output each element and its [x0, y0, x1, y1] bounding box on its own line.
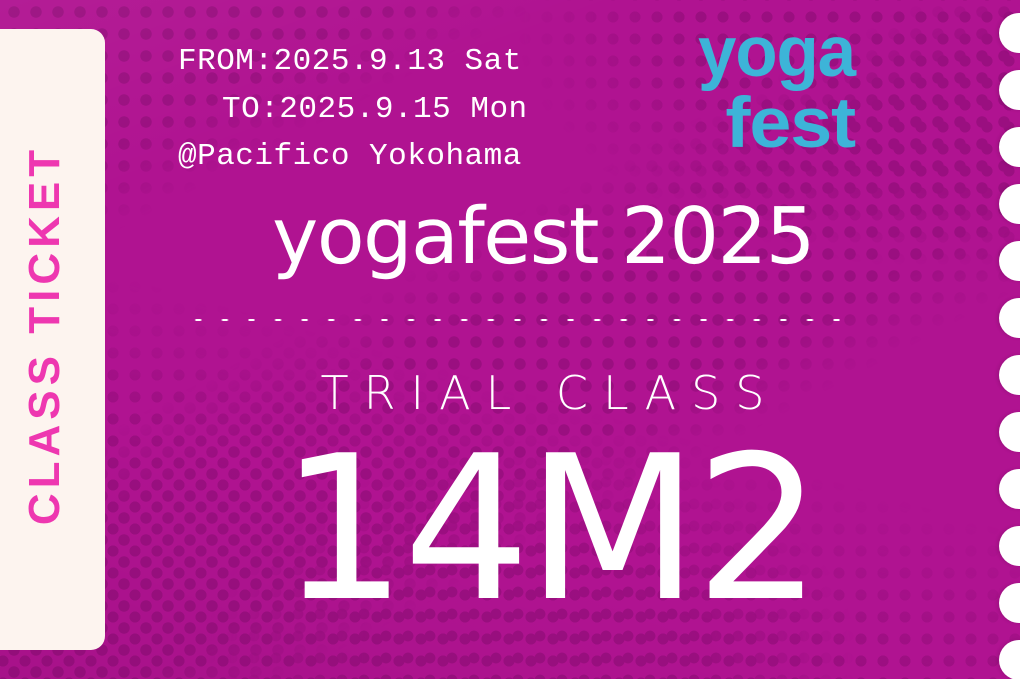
perforation-notch	[999, 13, 1020, 53]
event-start-date: FROM:2025.9.13 Sat	[178, 38, 528, 86]
perforation-notch	[999, 298, 1020, 338]
event-end-date: TO:2025.9.15 Mon	[178, 86, 528, 134]
dotted-divider	[185, 316, 851, 324]
perforation-notch	[999, 127, 1020, 167]
yogafest-logo-line-fest: fest	[669, 89, 855, 158]
class-ticket-card: CLASS TICKET FROM:2025.9.13 Sat TO:2025.…	[0, 0, 1020, 679]
event-schedule-block: FROM:2025.9.13 Sat TO:2025.9.15 Mon @Pac…	[178, 38, 528, 181]
perforation-notch	[999, 70, 1020, 110]
perforation-notch	[999, 640, 1020, 679]
yogafest-logo: yoga fest	[697, 25, 855, 151]
event-venue: @Pacifico Yokohama	[178, 133, 528, 181]
yogafest-logo-line-yoga: yoga	[684, 18, 855, 87]
event-wordmark: yogafest 2025	[0, 192, 1020, 282]
class-code: 14M2	[0, 430, 1020, 630]
ticket-type-subtitle: TRIAL CLASS	[0, 366, 1020, 420]
